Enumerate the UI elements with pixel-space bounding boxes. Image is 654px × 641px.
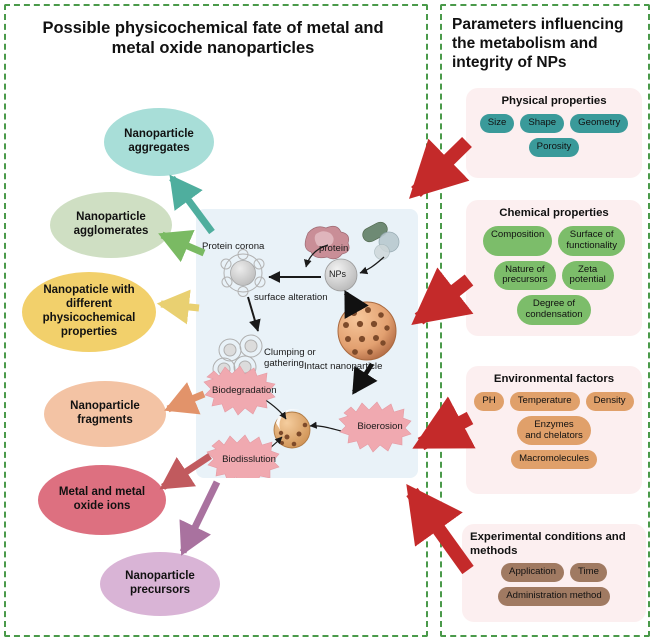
pill-time[interactable]: Time: [570, 563, 607, 582]
card-experimental-conditions: Experimental conditions and methods Appl…: [462, 524, 646, 622]
card-environmental-heading: Environmental factors: [474, 373, 634, 387]
label-biodegradation: Biodegradation: [212, 385, 276, 396]
pill-degree-of-condensation[interactable]: Degree of condensation: [517, 295, 590, 325]
pill-composition[interactable]: Composition: [483, 226, 552, 256]
pill-zeta-potential[interactable]: Zeta potential: [562, 261, 614, 291]
outcome-nanoparticle-aggregates: Nanoparticle aggregates: [104, 108, 214, 176]
card-physical-properties: Physical properties Size Shape Geometry …: [466, 88, 642, 178]
pill-shape[interactable]: Shape: [520, 114, 564, 133]
pill-density[interactable]: Density: [586, 392, 634, 411]
protein-corona-particle: [221, 250, 265, 297]
right-panel-title: Parameters influencing the metabolism an…: [452, 16, 644, 73]
card-experimental-heading: Experimental conditions and methods: [470, 531, 638, 558]
pill-application[interactable]: Application: [501, 563, 564, 582]
pill-macromolecules[interactable]: Macromolecules: [511, 450, 597, 469]
label-surface-alteration: surface alteration: [254, 292, 328, 303]
label-biodissolution: Biodisslution: [217, 454, 281, 465]
dissolving-nanoparticle: [274, 409, 310, 448]
pill-administration-method[interactable]: Administration method: [498, 587, 609, 606]
arrow-bioerosion-to-particle: [310, 426, 341, 431]
card-chemical-heading: Chemical properties: [474, 207, 634, 221]
pill-temperature[interactable]: Temperature: [510, 392, 580, 411]
pill-nature-of-precursors[interactable]: Nature of precursors: [494, 261, 555, 291]
arrow-protein2-to-nps: [360, 257, 384, 273]
outcome-nanoparticle-agglomerates: Nanoparticle agglomerates: [50, 192, 172, 258]
card-chemical-properties: Chemical properties Composition Surface …: [466, 200, 642, 336]
protein-blob-green: [360, 220, 399, 260]
label-protein: protein: [319, 243, 348, 254]
intact-nanoparticle-sphere: [338, 302, 396, 360]
pill-size[interactable]: Size: [480, 114, 515, 133]
outcome-nanoparticle-precursors: Nanoparticle precursors: [100, 552, 220, 616]
center-process-stage: Protein corona protein NPs surface alter…: [196, 209, 418, 478]
card-physical-heading: Physical properties: [474, 95, 634, 109]
label-intact-nanoparticle: Intact nanoparticle: [304, 361, 382, 372]
label-protein-corona: Protein corona: [202, 241, 264, 252]
card-environmental-factors: Environmental factors PH Temperature Den…: [466, 366, 642, 494]
outcome-different-properties: Nanopaticle with different physicochemic…: [22, 272, 156, 352]
outcome-nanoparticle-fragments: Nanoparticle fragments: [44, 381, 166, 447]
pill-enzymes-chelators[interactable]: Enzymes and chelators: [517, 416, 591, 446]
label-nps: NPs: [329, 269, 346, 279]
pill-ph[interactable]: PH: [474, 392, 503, 411]
left-panel-title: Possible physicochemical fate of metal a…: [38, 18, 388, 58]
outcome-metal-oxide-ions: Metal and metal oxide ions: [38, 465, 166, 535]
pill-porosity[interactable]: Porosity: [529, 138, 580, 157]
pill-surface-functionality[interactable]: Surface of functionality: [558, 226, 625, 256]
pill-geometry[interactable]: Geometry: [570, 114, 628, 133]
label-bioerosion: Bioerosion: [349, 421, 411, 432]
